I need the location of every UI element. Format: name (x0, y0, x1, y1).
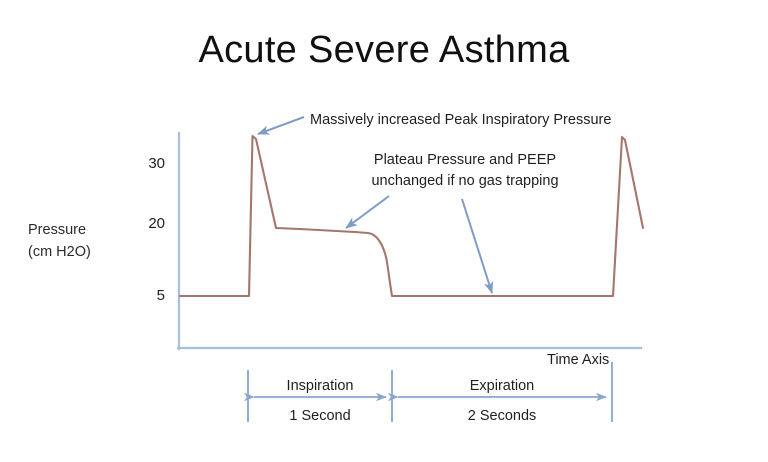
phase-label-inspiration: Inspiration 1 Second (248, 377, 392, 426)
y-tick-label-20: 20 (125, 215, 165, 232)
annotation-peak-pressure: Massively increased Peak Inspiratory Pre… (310, 110, 611, 131)
phase-label-expiration: Expiration 2 Seconds (392, 377, 612, 426)
expiration-label: Expiration (392, 377, 612, 397)
arrow-to-plateau-pressure (346, 196, 389, 228)
arrow-to-peak-pressure (258, 117, 304, 134)
page-title: Acute Severe Asthma (0, 30, 768, 72)
y-tick-label-30: 30 (125, 155, 165, 172)
annotation-plateau-line2: unchanged if no gas trapping (340, 171, 590, 192)
y-axis-title-line2: (cm H2O) (28, 241, 148, 263)
ventilator-pressure-waveform-figure: Acute Severe Asthma Pressure (cm H2O) 30… (0, 0, 768, 462)
y-tick-label-5: 5 (125, 287, 165, 304)
expiration-duration: 2 Seconds (392, 407, 612, 427)
annotation-plateau-line1: Plateau Pressure and PEEP (340, 150, 590, 171)
annotation-plateau-peep: Plateau Pressure and PEEP unchanged if n… (340, 150, 590, 192)
inspiration-duration: 1 Second (248, 407, 392, 427)
arrow-to-peep-baseline (462, 199, 492, 293)
x-axis-title: Time Axis (547, 352, 609, 368)
inspiration-label: Inspiration (248, 377, 392, 397)
